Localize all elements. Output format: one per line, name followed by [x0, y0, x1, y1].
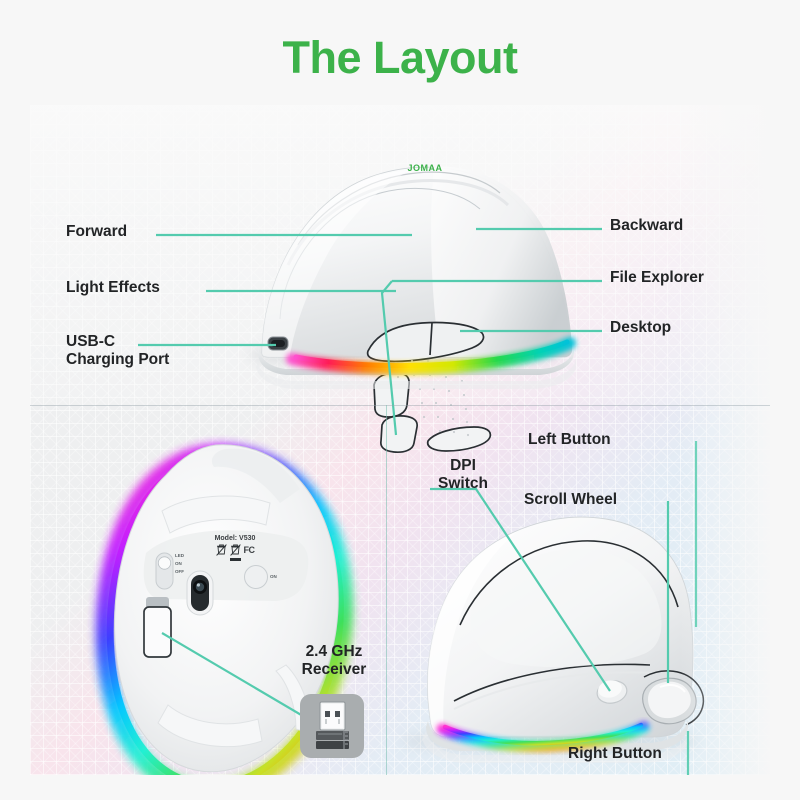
- mouse-side-view: [247, 167, 576, 453]
- switch-label-led: LED: [175, 552, 184, 560]
- model-number-text: Model: V530: [180, 535, 290, 542]
- label-usb-c-charging-port: USB-C Charging Port: [66, 333, 169, 369]
- certification-marks: FC: [180, 544, 290, 556]
- optical-sensor: [187, 571, 213, 615]
- pair-button-label: ON: [270, 574, 277, 579]
- receiver-storage-bay: [144, 597, 171, 657]
- desktop-button: [428, 427, 491, 451]
- rgb-light-strip-front: [442, 725, 644, 746]
- label-desktop: Desktop: [610, 319, 671, 337]
- label-backward: Backward: [610, 217, 683, 235]
- label-2-4ghz-receiver: 2.4 GHz Receiver: [282, 643, 386, 679]
- switch-label-on: ON: [175, 560, 184, 568]
- label-light-effects: Light Effects: [66, 279, 160, 297]
- scroll-wheel: [643, 678, 696, 724]
- fcc-icon: FC: [244, 545, 255, 555]
- leader-dpi-switch: [430, 489, 610, 691]
- weee-bin-icon: [230, 544, 241, 556]
- usb-c-port: [268, 337, 288, 350]
- left-button-surface: [471, 549, 662, 667]
- mouse-front-right-view: [400, 517, 703, 763]
- skate-pad-bottom: [158, 705, 262, 747]
- label-file-explorer: File Explorer: [610, 269, 704, 287]
- weee-bar: [230, 558, 241, 561]
- dpi-switch-button: [595, 678, 629, 706]
- right-edge-fade: [680, 105, 770, 775]
- brand-logo: JOMAA: [390, 163, 460, 173]
- forward-backward-rocker: [368, 322, 484, 361]
- rgb-light-strip-side: [292, 342, 570, 369]
- panel-divider-vertical: [386, 405, 387, 775]
- power-slide-switch: [156, 553, 173, 589]
- label-left-button: Left Button: [528, 431, 611, 449]
- label-right-button: Right Button: [568, 745, 662, 763]
- label-dpi-switch: DPI Switch: [428, 457, 498, 493]
- usb-dongle-icon: [300, 694, 364, 758]
- leader-file-explorer-bend: [382, 281, 396, 435]
- skate-pad-top: [162, 496, 270, 533]
- grip-dot-texture: [395, 360, 469, 436]
- label-forward: Forward: [66, 223, 127, 241]
- weee-bin-icon: [216, 544, 227, 556]
- pair-button: [245, 566, 268, 589]
- background-texture: [30, 105, 770, 775]
- page-title: The Layout: [0, 32, 800, 84]
- layout-diagram-board: Forward Light Effects USB-C Charging Por…: [30, 105, 770, 775]
- usb-receiver-thumbnail: [300, 694, 364, 758]
- model-label-group: Model: V530 FC: [180, 535, 290, 561]
- switch-position-labels: LED ON OFF: [175, 552, 184, 576]
- panel-divider-horizontal: [30, 405, 770, 406]
- switch-label-off: OFF: [175, 568, 184, 576]
- brand-logo-text: JOMAA: [407, 163, 442, 173]
- label-scroll-wheel: Scroll Wheel: [524, 491, 617, 509]
- light-effects-button: [374, 373, 409, 417]
- top-panel-illustration: [30, 105, 770, 775]
